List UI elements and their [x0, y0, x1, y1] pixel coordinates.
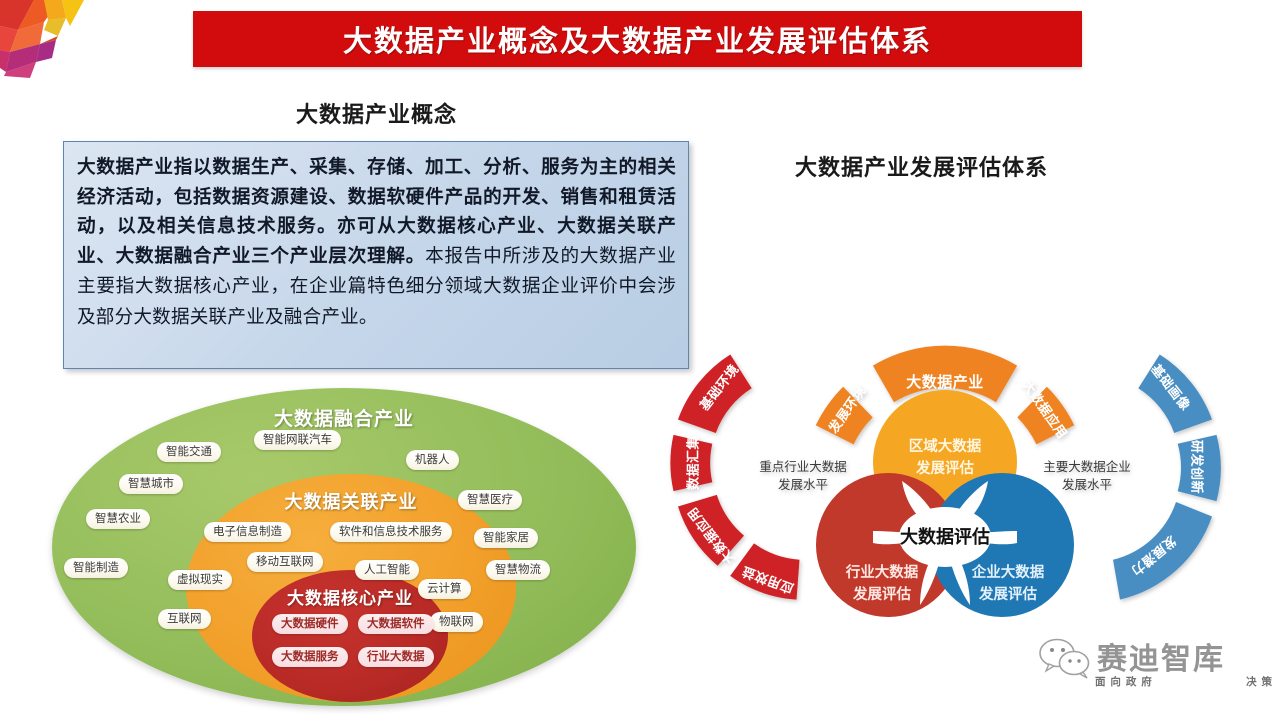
pill-related-item[interactable]: 移动互联网 [247, 552, 323, 572]
pill-fusion-item[interactable]: 智能网联汽车 [254, 430, 341, 450]
blue-note-line1: 主要大数据企业 [1043, 459, 1131, 474]
blue-note-line2: 发展水平 [1062, 477, 1112, 492]
concept-section-heading: 大数据产业概念 [296, 97, 457, 129]
slide-title-bar: 大数据产业概念及大数据产业发展评估体系 [193, 11, 1082, 67]
pill-fusion-item[interactable]: 智能家居 [474, 528, 538, 548]
pill-fusion-item[interactable]: 智能交通 [157, 442, 221, 462]
venn-label-enterprise-line2: 发展评估 [978, 585, 1037, 603]
polygon-decoration-logo [0, 0, 92, 80]
evaluation-system-diagram: 发展环境 大数据产业 大数据应用 31个省、市、自治区 大数据产业发展水平 基础… [620, 205, 1270, 705]
pill-related-item[interactable]: 电子信息制造 [204, 522, 291, 542]
venn-label-region-line2: 发展评估 [915, 459, 974, 477]
pill-fusion-item[interactable]: 智慧城市 [119, 474, 183, 494]
pill-related-item[interactable]: 人工智能 [355, 560, 419, 580]
pill-related-item[interactable]: 云计算 [418, 579, 471, 599]
pill-related-item[interactable]: 物联网 [430, 612, 483, 632]
pill-fusion-item[interactable]: 智慧医疗 [458, 490, 522, 510]
pill-core-item[interactable]: 行业大数据 [358, 647, 434, 667]
pill-fusion-item[interactable]: 智慧物流 [486, 560, 550, 580]
venn-label-industry-line2: 发展评估 [852, 585, 911, 603]
slide-canvas: 大数据产业概念及大数据产业发展评估体系 大数据产业概念 大数据产业发展评估体系 … [0, 0, 1280, 720]
red-arc-label-2: 数据汇集 [685, 436, 700, 491]
pill-fusion-item[interactable]: 机器人 [406, 450, 459, 470]
blue-arc-label-2: 研发创新 [1190, 440, 1205, 494]
red-note-line2: 发展水平 [778, 477, 828, 492]
slide-title: 大数据产业概念及大数据产业发展评估体系 [343, 18, 932, 60]
ring-label-fusion: 大数据融合产业 [44, 404, 644, 431]
pill-related-item[interactable]: 软件和信息技术服务 [330, 522, 452, 542]
pill-core-item[interactable]: 大数据服务 [272, 647, 348, 667]
system-section-heading: 大数据产业发展评估体系 [795, 150, 1048, 182]
venn-label-region-line1: 区域大数据 [909, 437, 982, 455]
venn-center-label: 大数据评估 [900, 526, 990, 547]
pill-fusion-item[interactable]: 智慧农业 [86, 509, 150, 529]
pill-fusion-item[interactable]: 智能制造 [64, 558, 128, 578]
venn-label-industry-line1: 行业大数据 [845, 563, 919, 581]
pill-core-item[interactable]: 大数据软件 [358, 614, 434, 634]
industry-venn-diagram: 大数据融合产业 大数据关联产业 大数据核心产业 智能交通 智能网联汽车 机器人 … [44, 382, 644, 712]
concept-paragraph: 大数据产业指以数据生产、采集、存储、加工、分析、服务为主的相关经济活动，包括数据… [77, 152, 676, 332]
pill-related-item[interactable]: 互联网 [158, 609, 211, 629]
pill-core-item[interactable]: 大数据硬件 [272, 614, 348, 634]
pill-related-item[interactable]: 虚拟现实 [168, 570, 232, 590]
venn-label-enterprise-line1: 企业大数据 [971, 563, 1045, 581]
red-note-line1: 重点行业大数据 [759, 459, 847, 474]
orange-arc-label-2: 大数据产业 [906, 373, 984, 391]
concept-text-box: 大数据产业指以数据生产、采集、存储、加工、分析、服务为主的相关经济活动，包括数据… [63, 141, 689, 369]
